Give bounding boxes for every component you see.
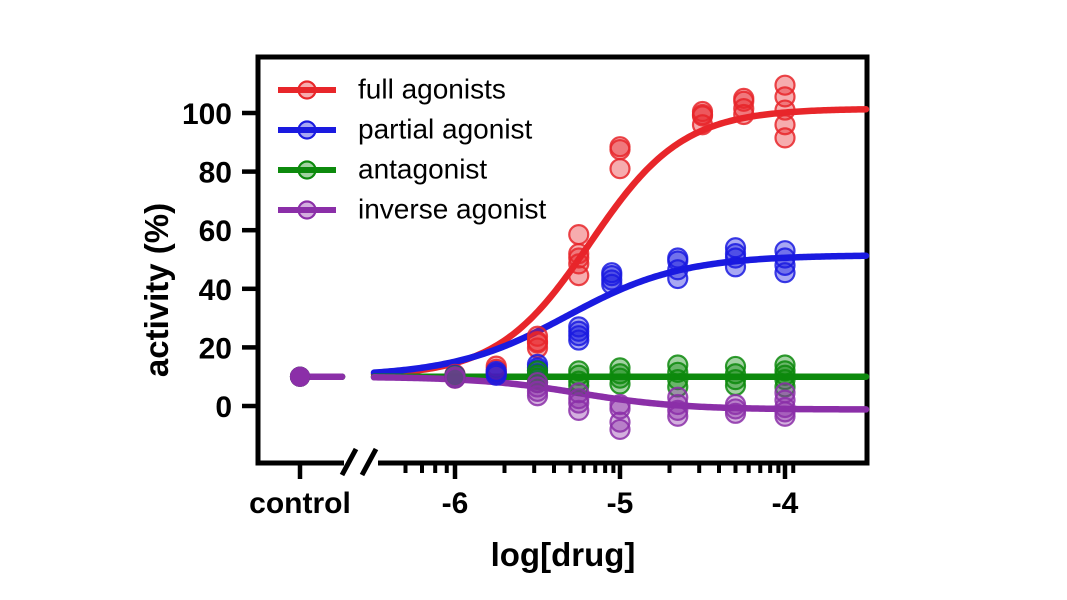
data-point bbox=[693, 102, 712, 121]
x-tick-label: -4 bbox=[772, 487, 799, 520]
legend-item-label: inverse agonist bbox=[358, 193, 547, 224]
data-point bbox=[611, 159, 630, 178]
data-point bbox=[734, 89, 753, 108]
data-point bbox=[602, 263, 621, 282]
data-point bbox=[446, 367, 465, 386]
y-tick-label: 40 bbox=[199, 274, 232, 307]
data-point bbox=[528, 373, 547, 392]
x-tick-label: -6 bbox=[442, 487, 469, 520]
data-point bbox=[611, 395, 630, 414]
legend-swatch-marker bbox=[299, 82, 316, 99]
data-point bbox=[487, 362, 506, 381]
plot-canvas: 020406080100 control-6-5-4 full agonists… bbox=[0, 0, 1067, 600]
dose-response-figure: 020406080100 control-6-5-4 full agonists… bbox=[0, 0, 1067, 600]
legend-item-label: antagonist bbox=[358, 153, 487, 184]
y-axis-title: activity (%) bbox=[138, 203, 175, 377]
data-point bbox=[726, 238, 745, 257]
data-point bbox=[776, 383, 795, 402]
y-axis-tick-labels: 020406080100 bbox=[182, 98, 232, 424]
axis-break-marks bbox=[342, 449, 378, 475]
x-axis-tick-labels: control-6-5-4 bbox=[249, 487, 798, 520]
y-tick-label: 60 bbox=[199, 215, 232, 248]
data-point bbox=[611, 358, 630, 377]
y-tick-label: 20 bbox=[199, 332, 232, 365]
x-tick-label: -5 bbox=[607, 487, 634, 520]
legend-swatch-marker bbox=[299, 162, 316, 179]
legend-swatch-marker bbox=[299, 202, 316, 219]
y-tick-label: 100 bbox=[182, 98, 232, 131]
data-point bbox=[776, 355, 795, 374]
data-point bbox=[776, 241, 795, 260]
data-point bbox=[569, 225, 588, 244]
x-tick-label-control: control bbox=[249, 487, 351, 520]
data-point bbox=[528, 327, 547, 346]
data-point bbox=[776, 76, 795, 95]
control-data-point bbox=[291, 368, 309, 386]
data-point bbox=[569, 244, 588, 263]
legend-item-label: full agonists bbox=[358, 73, 506, 104]
data-point bbox=[569, 361, 588, 380]
data-point bbox=[726, 357, 745, 376]
data-point bbox=[569, 383, 588, 402]
data-point bbox=[726, 395, 745, 414]
data-point bbox=[611, 137, 630, 156]
legend-swatch-marker bbox=[299, 122, 316, 139]
data-point bbox=[668, 388, 687, 407]
legend-item-label: partial agonist bbox=[358, 113, 533, 144]
legend: full agonistspartial agonistantagonistin… bbox=[278, 73, 547, 224]
x-axis-title: log[drug] bbox=[491, 536, 636, 573]
y-tick-label: 0 bbox=[215, 391, 232, 424]
data-point bbox=[668, 249, 687, 268]
data-point bbox=[569, 317, 588, 336]
y-tick-label: 80 bbox=[199, 157, 232, 190]
data-point bbox=[668, 355, 687, 374]
